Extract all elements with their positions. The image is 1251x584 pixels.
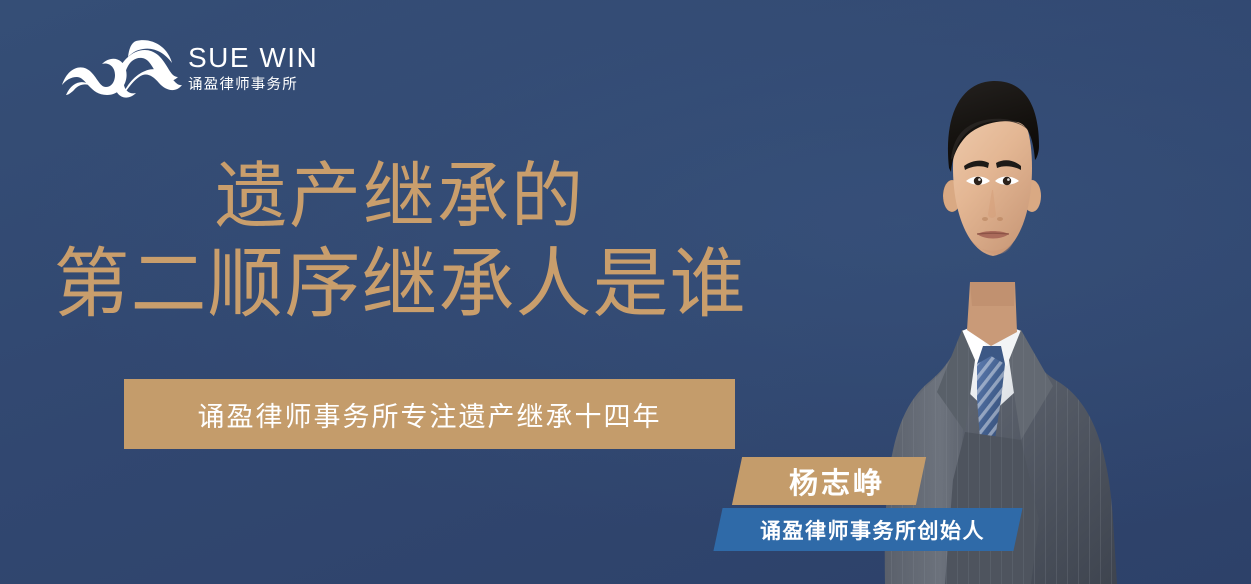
person-name: 杨志峥: [752, 457, 922, 505]
person-role: 诵盈律师事务所创始人: [730, 508, 1015, 551]
brand-logo[interactable]: SUE WIN 诵盈律师事务所: [60, 33, 325, 111]
tagline-banner: 诵盈律师事务所专注遗产继承十四年: [124, 379, 735, 449]
double-wave-mark-icon: [60, 33, 182, 105]
headline-line-2: 第二顺序继承人是谁: [0, 240, 800, 328]
headline-line-1: 遗产继承的: [0, 152, 800, 240]
tagline-text: 诵盈律师事务所专注遗产继承十四年: [198, 395, 662, 434]
brand-logo-text: SUE WIN 诵盈律师事务所: [188, 43, 328, 95]
headline: 遗产继承的 第二顺序继承人是谁: [0, 152, 800, 328]
promo-banner: SUE WIN 诵盈律师事务所 遗产继承的 第二顺序继承人是谁 诵盈律师事务所专…: [0, 0, 1251, 584]
brand-name-en: SUE WIN: [188, 43, 328, 73]
brand-name-cn: 诵盈律师事务所: [188, 75, 328, 95]
